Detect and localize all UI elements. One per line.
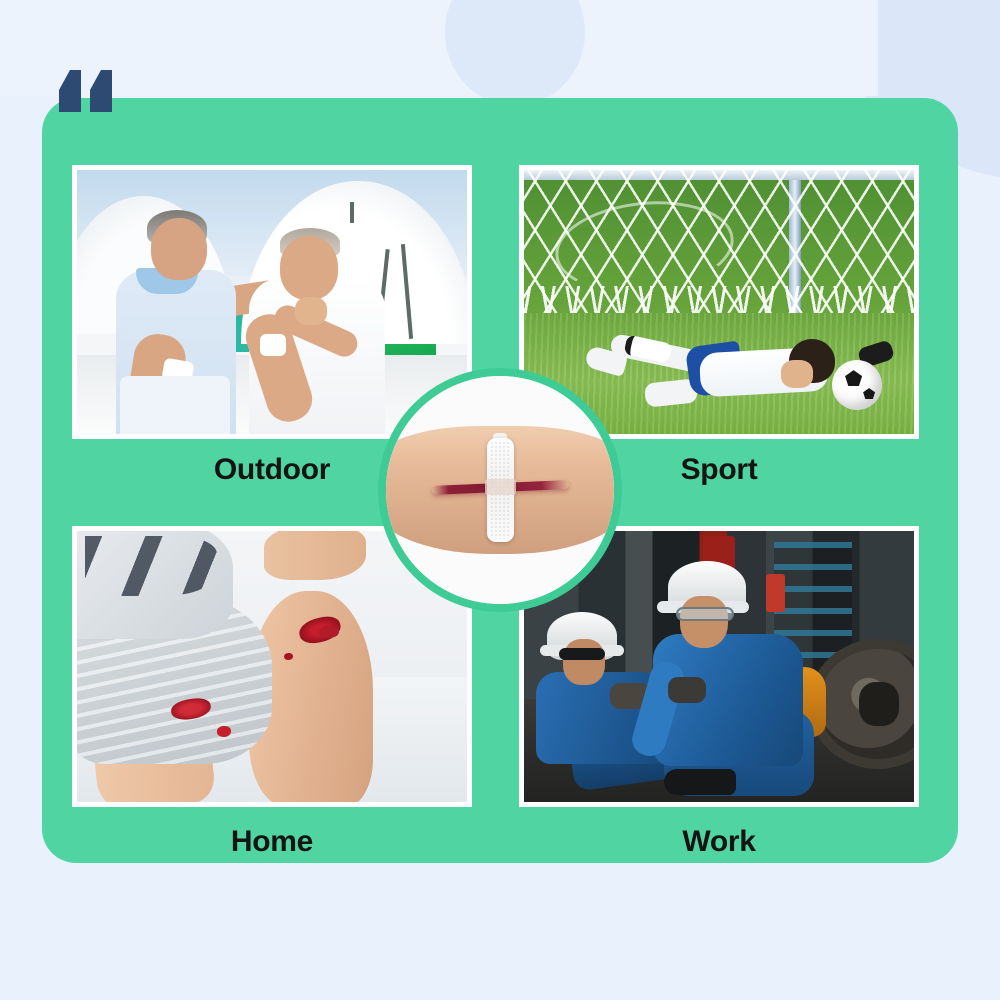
soccer-ball-icon — [832, 360, 882, 410]
closeup-strip-center-pad — [485, 479, 516, 495]
closeup-inner — [386, 376, 614, 604]
home-shirt-pattern — [85, 536, 218, 596]
quote-open-icon — [57, 62, 117, 118]
outdoor-helper-head — [151, 218, 207, 280]
home-arm — [264, 531, 365, 580]
home-knee-graze — [319, 626, 339, 638]
outdoor-helper-shorts — [120, 376, 230, 434]
home-knee-graze — [284, 653, 293, 660]
work-helper-shoe — [664, 769, 736, 795]
outdoor-pole — [350, 202, 354, 223]
outdoor-injured-wristband — [260, 334, 286, 356]
work-red-canister — [766, 574, 786, 612]
work-helper-face — [680, 596, 728, 648]
work-helper-safety-glasses — [676, 607, 734, 621]
use-case-label-home: Home — [72, 825, 472, 858]
use-case-label-work: Work — [519, 825, 919, 858]
work-injured-safety-glasses — [559, 648, 605, 660]
work-helper-glove — [668, 677, 706, 703]
work-injured-face — [563, 639, 605, 685]
wound-closure-strip-closeup — [378, 368, 622, 612]
sport-player-face — [781, 360, 813, 388]
background-top-panel — [0, 0, 878, 96]
infographic-canvas: Outdoor — [0, 0, 1000, 1000]
outdoor-injured-head — [280, 236, 338, 300]
outdoor-injured-hand — [295, 297, 327, 325]
